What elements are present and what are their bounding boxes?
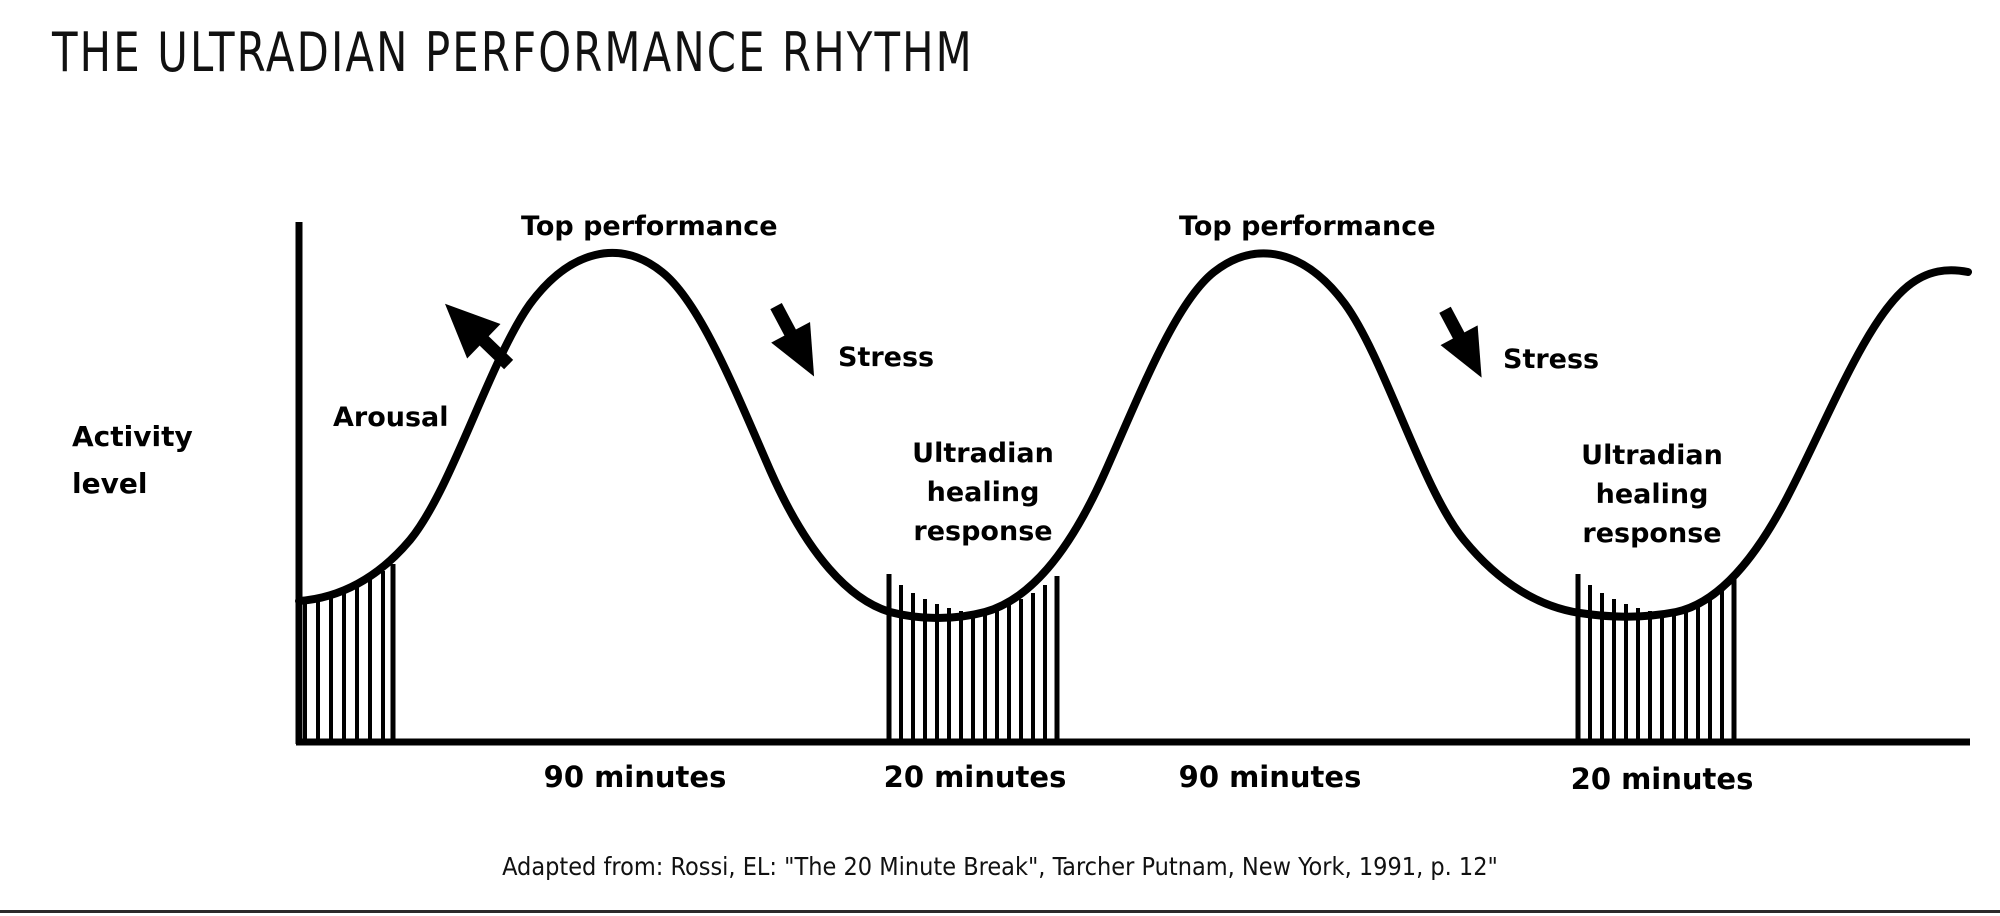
bottom-divider <box>0 910 2000 913</box>
source-caption: Adapted from: Rossi, EL: "The 20 Minute … <box>0 852 2000 881</box>
stress-arrow-2-icon <box>1427 300 1500 388</box>
hatch-region-healing-1 <box>889 574 1057 742</box>
figure-canvas: THE ULTRADIAN PERFORMANCE RHYTHM <box>0 0 2000 916</box>
annotation-ultradian-healing-response-1: Ultradian healing response <box>883 434 1083 551</box>
annotation-top-performance-2: Top performance <box>1179 207 1436 246</box>
annotation-arousal: Arousal <box>333 398 449 437</box>
x-tick-label-90-minutes-1: 90 minutes <box>465 760 805 794</box>
x-tick-label-20-minutes-2: 20 minutes <box>1492 762 1832 796</box>
annotation-stress-1: Stress <box>838 338 934 377</box>
annotation-ultradian-healing-response-2: Ultradian healing response <box>1552 436 1752 553</box>
annotation-stress-2: Stress <box>1503 340 1599 379</box>
stress-arrow-1-icon <box>757 296 833 387</box>
x-tick-label-90-minutes-2: 90 minutes <box>1100 760 1440 794</box>
annotation-top-performance-1: Top performance <box>521 207 778 246</box>
y-axis-label: Activity level <box>72 413 262 507</box>
x-tick-label-20-minutes-1: 20 minutes <box>805 760 1145 794</box>
